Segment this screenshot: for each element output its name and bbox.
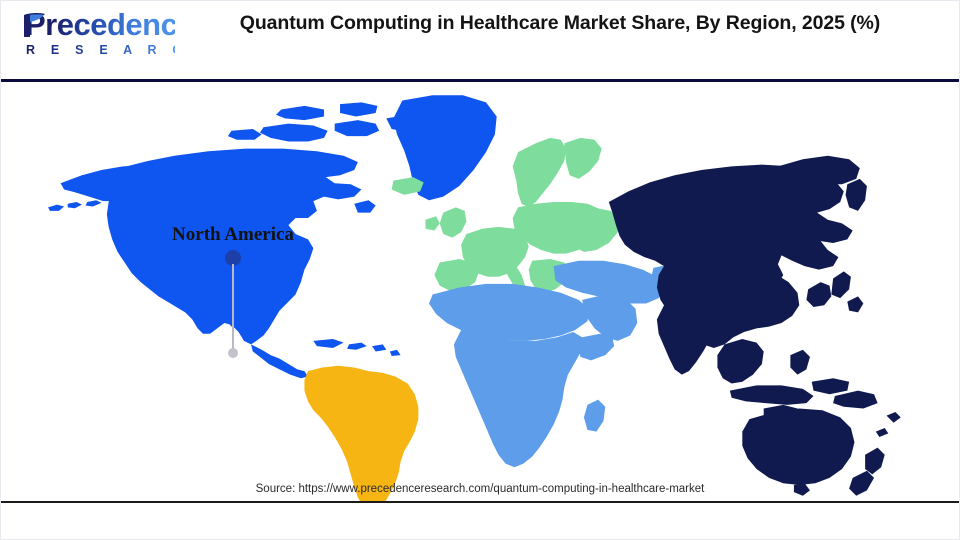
- page-title: Quantum Computing in Healthcare Market S…: [191, 10, 929, 38]
- leaf-p-icon: [21, 11, 47, 39]
- map-region-middle-east-africa[interactable]: [429, 261, 685, 467]
- callout-region-label: North America: [128, 224, 338, 246]
- pin-foot-dot-icon: [228, 348, 238, 358]
- callout-value-label: 46%: [173, 362, 293, 382]
- map-region-asia-pacific[interactable]: [609, 156, 901, 496]
- source-link[interactable]: Source: https://www.precedenceresearch.c…: [1, 483, 959, 495]
- pin-stem-line: [232, 264, 234, 352]
- footer-bar: Source: https://www.precedenceresearch.c…: [1, 501, 959, 539]
- header-bar: Precedence R E S E A R C H Quantum Compu…: [1, 1, 959, 82]
- world-map: [41, 76, 931, 506]
- map-stage: North America 46%: [1, 82, 959, 502]
- logo-subtitle: R E S E A R C H: [26, 43, 175, 57]
- precedence-research-logo: Precedence R E S E A R C H: [15, 9, 175, 69]
- infographic-root: Precedence R E S E A R C H Quantum Compu…: [0, 0, 960, 540]
- logo-wordmark: Precedence: [25, 9, 175, 40]
